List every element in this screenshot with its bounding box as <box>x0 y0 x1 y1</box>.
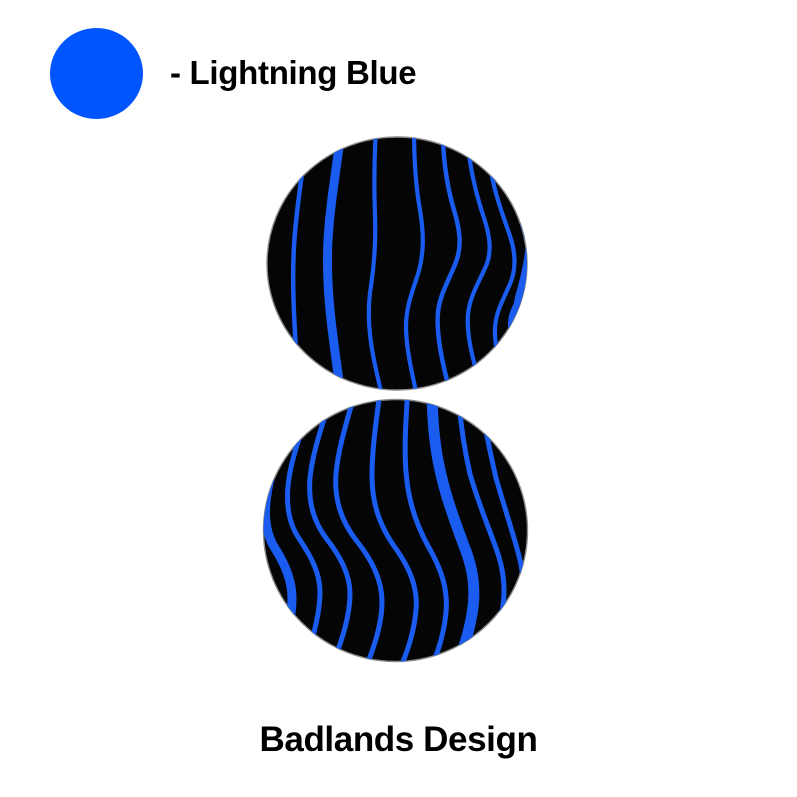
design-canvas: - Lightning Blue <box>0 0 797 797</box>
contour-patch-top <box>266 136 528 391</box>
contour-patch-bottom <box>262 398 529 663</box>
brand-name-label: Badlands Design <box>0 722 797 757</box>
color-name-label: - Lightning Blue <box>170 56 416 91</box>
color-legend: - Lightning Blue <box>50 28 416 119</box>
color-swatch-circle-icon <box>50 28 143 119</box>
